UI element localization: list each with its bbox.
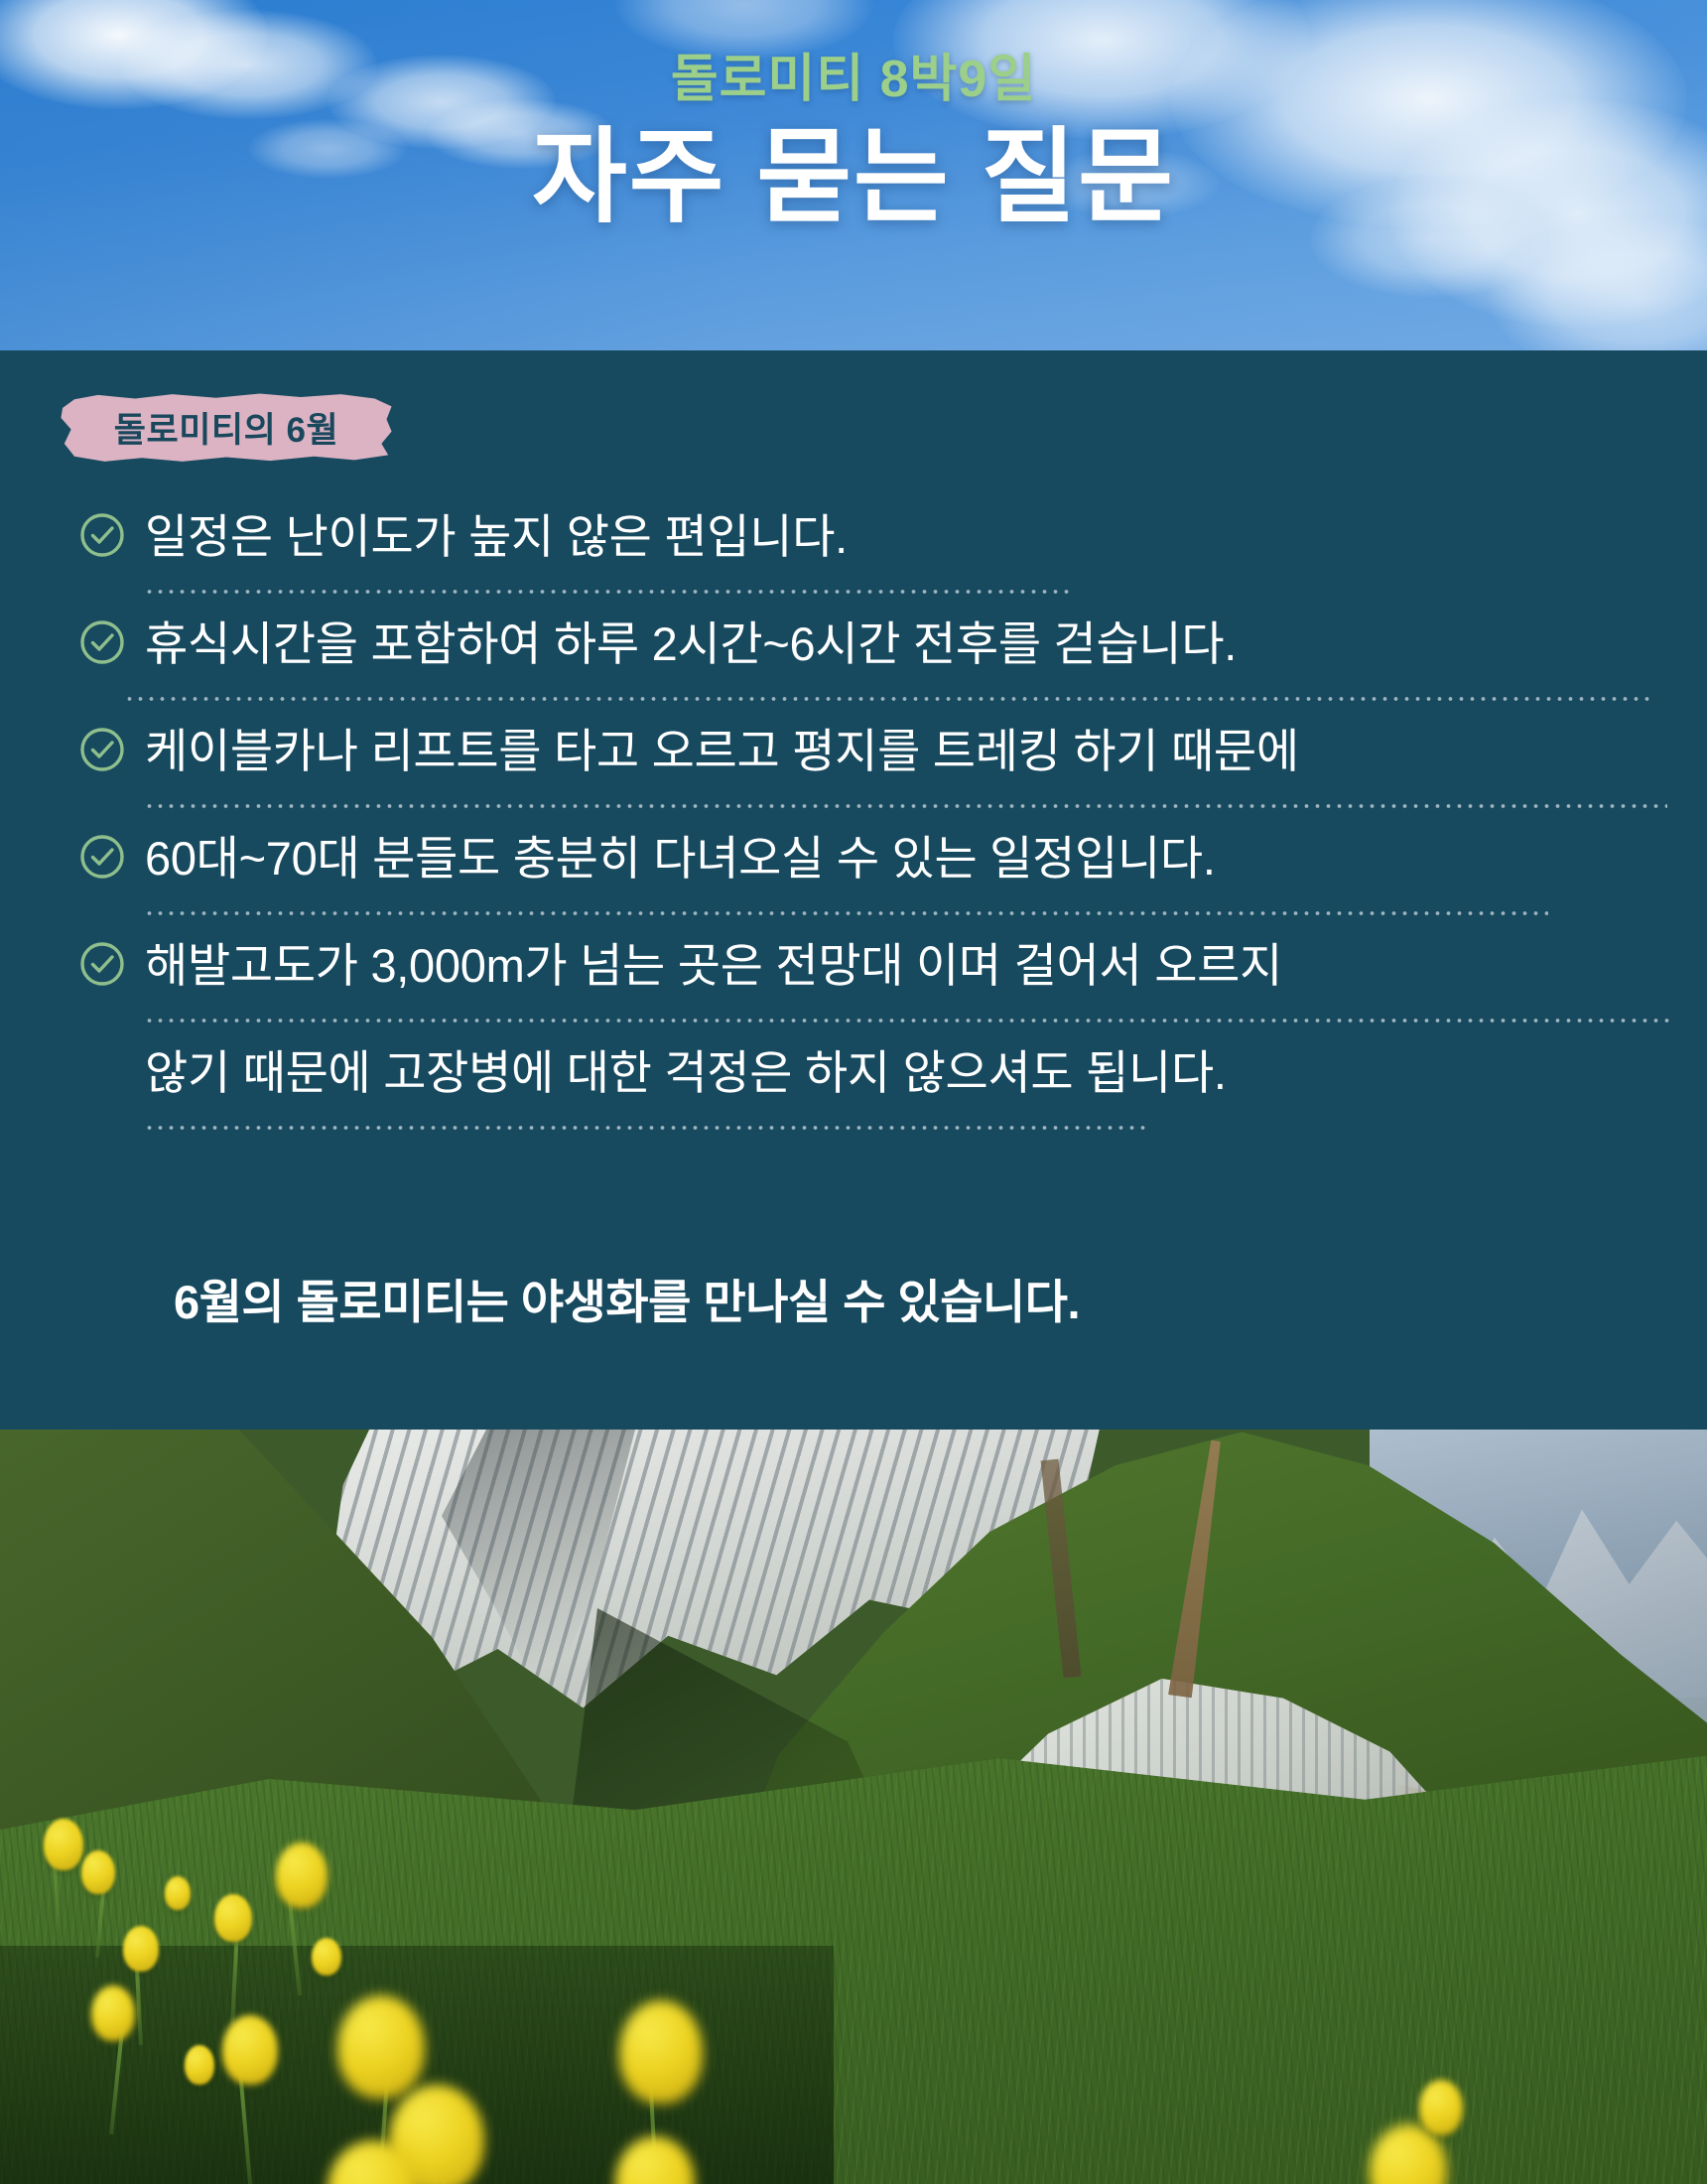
list-item: 케이블카나 리프트를 타고 오르고 평지를 트레킹 하기 때문에	[0, 714, 1707, 797]
list-item-text: 해발고도가 3,000m가 넘는 곳은 전망대 이며 걸어서 오르지	[145, 928, 1618, 1000]
dotted-divider	[124, 696, 1652, 702]
check-circle-icon	[78, 511, 126, 559]
check-slot	[60, 714, 145, 785]
wildflower	[222, 2015, 278, 2085]
wildflower	[337, 1995, 425, 2099]
faq-list: 일정은 난이도가 높지 않은 편입니다. 휴식시간을 포함하여 하루 2시간~6…	[0, 499, 1707, 1143]
list-item-text: 60대~70대 분들도 충분히 다녀오실 수 있는 일정입니다.	[145, 821, 1618, 892]
dotted-divider	[144, 910, 1548, 916]
check-slot	[60, 607, 145, 678]
wildflower	[214, 1894, 252, 1942]
header-sky-banner: 돌로미티 8박9일 자주 묻는 질문	[0, 0, 1707, 350]
wildflower	[81, 1850, 115, 1894]
check-circle-icon	[78, 726, 126, 773]
list-item-text: 케이블카나 리프트를 타고 오르고 평지를 트레킹 하기 때문에	[145, 714, 1618, 785]
mountain-meadow-photo	[0, 1430, 1707, 2184]
check-slot	[60, 928, 145, 1000]
wildflower	[619, 2000, 703, 2104]
dotted-divider	[144, 1125, 1151, 1131]
wildflower	[312, 1938, 341, 1976]
list-item: 휴식시간을 포함하여 하루 2시간~6시간 전후를 걷습니다.	[0, 607, 1707, 690]
dotted-divider	[144, 589, 1072, 595]
list-item-text: 일정은 난이도가 높지 않은 편입니다.	[145, 499, 1618, 571]
wildflower	[185, 2045, 214, 2085]
wildflower	[91, 1985, 135, 2041]
list-item-text: 휴식시간을 포함하여 하루 2시간~6시간 전후를 걷습니다.	[145, 607, 1618, 678]
check-slot	[60, 821, 145, 892]
check-slot	[60, 499, 145, 571]
section-badge: 돌로미티의 6월	[58, 392, 395, 464]
closing-statement: 6월의 돌로미티는 야생화를 만나실 수 있습니다.	[174, 1264, 1080, 1332]
list-item-text: 않기 때문에 고장병에 대한 걱정은 하지 않으셔도 됩니다.	[145, 1035, 1618, 1107]
wildflower	[44, 1819, 83, 1870]
list-item-continuation: 않기 때문에 고장병에 대한 걱정은 하지 않으셔도 됩니다.	[0, 1035, 1707, 1119]
dotted-divider	[144, 1018, 1669, 1024]
list-item: 일정은 난이도가 높지 않은 편입니다.	[0, 499, 1707, 583]
section-badge-label: 돌로미티의 6월	[58, 392, 395, 464]
wildflower	[123, 1926, 159, 1972]
tour-subtitle: 돌로미티 8박9일	[0, 52, 1707, 108]
list-item: 60대~70대 분들도 충분히 다녀오실 수 있는 일정입니다.	[0, 821, 1707, 904]
list-item: 해발고도가 3,000m가 넘는 곳은 전망대 이며 걸어서 오르지	[0, 928, 1707, 1012]
check-circle-icon	[78, 618, 126, 666]
header-text-block: 돌로미티 8박9일 자주 묻는 질문	[0, 52, 1707, 234]
check-slot-empty	[60, 1035, 145, 1107]
wildflower	[276, 1843, 328, 1908]
page-title: 자주 묻는 질문	[0, 122, 1707, 233]
check-circle-icon	[78, 940, 126, 988]
wildflower	[165, 1876, 191, 1910]
faq-panel: 돌로미티의 6월 일정은 난이도가 높지 않은 편입니다.	[0, 350, 1707, 1430]
wildflower	[1419, 2080, 1463, 2135]
faq-poster: 돌로미티 8박9일 자주 묻는 질문 돌로미티의 6월 일정은 난이도가 높지 …	[0, 0, 1707, 2184]
dotted-divider	[144, 803, 1667, 809]
check-circle-icon	[78, 833, 126, 881]
